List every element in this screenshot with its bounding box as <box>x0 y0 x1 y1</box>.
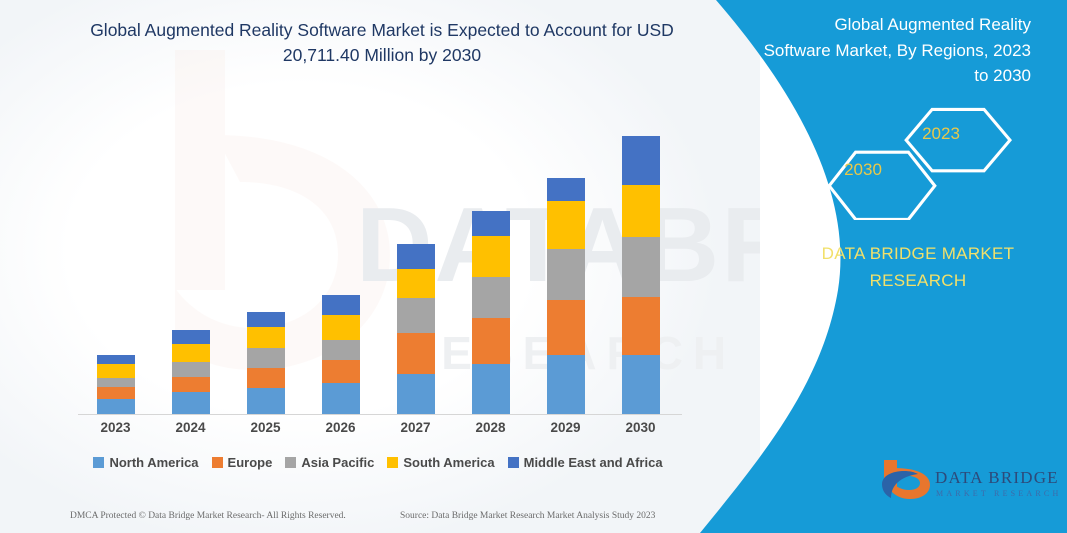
legend-item-europe[interactable]: Europe <box>212 455 273 470</box>
bar-2029 <box>528 178 603 415</box>
legend-item-middle-east-and-africa[interactable]: Middle East and Africa <box>508 455 663 470</box>
bar-segment-2023-asia-pacific <box>97 378 135 387</box>
legend-item-south-america[interactable]: South America <box>387 455 494 470</box>
bar-segment-2025-middle-east-and-africa <box>247 312 285 327</box>
year-hexagons: 2030 2023 <box>648 100 1067 220</box>
brand-line-2: RESEARCH <box>870 271 967 290</box>
company-logo: DATA BRIDGE MARKET RESEARCH <box>880 458 1060 520</box>
legend-swatch-icon <box>285 457 296 468</box>
bar-segment-2027-north-america <box>397 374 435 415</box>
bar-2024 <box>153 330 228 415</box>
footer-source: Source: Data Bridge Market Research Mark… <box>400 511 655 521</box>
hexagon-2030-label: 2030 <box>828 160 898 180</box>
bar-segment-2027-asia-pacific <box>397 298 435 333</box>
bar-2023 <box>78 355 153 415</box>
bar-segment-2025-south-america <box>247 327 285 348</box>
bar-segment-2028-asia-pacific <box>472 277 510 318</box>
x-axis-label-2027: 2027 <box>378 420 453 435</box>
bar-segment-2026-north-america <box>322 383 360 415</box>
legend-swatch-icon <box>387 457 398 468</box>
page-title: Global Augmented Reality Software Market… <box>72 18 692 68</box>
legend-item-asia-pacific[interactable]: Asia Pacific <box>285 455 374 470</box>
legend-swatch-icon <box>212 457 223 468</box>
bar-segment-2024-europe <box>172 377 210 392</box>
logo-text-sub: MARKET RESEARCH <box>936 489 1061 498</box>
bar-segment-2027-middle-east-and-africa <box>397 244 435 269</box>
bar-segment-2023-south-america <box>97 364 135 378</box>
bar-segment-2029-north-america <box>547 355 585 415</box>
x-axis-label-2024: 2024 <box>153 420 228 435</box>
bar-segment-2025-north-america <box>247 388 285 415</box>
bar-segment-2029-south-america <box>547 201 585 249</box>
x-axis-label-2028: 2028 <box>453 420 528 435</box>
bar-segment-2023-middle-east-and-africa <box>97 355 135 364</box>
legend-item-north-america[interactable]: North America <box>93 455 198 470</box>
bar-segment-2025-europe <box>247 368 285 388</box>
panel-heading: Global Augmented Reality Software Market… <box>763 12 1031 89</box>
bar-2025 <box>228 312 303 415</box>
x-axis-label-2026: 2026 <box>303 420 378 435</box>
chart-panel: DATABRIDGE RESEARCH Global Augmented Rea… <box>0 0 760 533</box>
legend-swatch-icon <box>508 457 519 468</box>
footer-dmca: DMCA Protected © Data Bridge Market Rese… <box>70 511 346 521</box>
footer: DMCA Protected © Data Bridge Market Rese… <box>0 505 740 527</box>
plot-area <box>78 110 678 415</box>
bar-segment-2029-middle-east-and-africa <box>547 178 585 201</box>
brand-panel: Global Augmented Reality Software Market… <box>648 0 1067 533</box>
bar-2027 <box>378 244 453 415</box>
bar-segment-2025-asia-pacific <box>247 348 285 368</box>
bar-2026 <box>303 295 378 415</box>
x-axis-labels: 20232024202520262027202820292030 <box>78 420 678 444</box>
hexagon-2023-label: 2023 <box>906 124 976 144</box>
bar-segment-2024-asia-pacific <box>172 362 210 377</box>
chart-legend: North AmericaEuropeAsia PacificSouth Ame… <box>78 455 678 470</box>
bar-segment-2028-middle-east-and-africa <box>472 211 510 236</box>
bar-chart <box>78 110 678 415</box>
legend-label: South America <box>403 455 494 470</box>
bar-segment-2024-middle-east-and-africa <box>172 330 210 344</box>
bar-segment-2024-north-america <box>172 392 210 415</box>
logo-text-main: DATA BRIDGE <box>935 468 1059 488</box>
x-axis-label-2029: 2029 <box>528 420 603 435</box>
bar-segment-2029-asia-pacific <box>547 249 585 300</box>
legend-label: Middle East and Africa <box>524 455 663 470</box>
bar-segment-2028-north-america <box>472 364 510 415</box>
bar-segment-2028-europe <box>472 318 510 364</box>
bar-segment-2027-south-america <box>397 269 435 298</box>
bar-segment-2026-south-america <box>322 315 360 340</box>
bar-segment-2023-europe <box>97 387 135 399</box>
logo-mark-icon <box>880 458 932 504</box>
x-axis-label-2025: 2025 <box>228 420 303 435</box>
bar-segment-2024-south-america <box>172 344 210 362</box>
bar-segment-2027-europe <box>397 333 435 374</box>
bar-segment-2026-middle-east-and-africa <box>322 295 360 315</box>
bar-segment-2029-europe <box>547 300 585 355</box>
bar-segment-2028-south-america <box>472 236 510 277</box>
x-axis-line <box>78 414 682 415</box>
brand-name: DATA BRIDGE MARKET RESEARCH <box>783 240 1053 294</box>
bar-segment-2026-europe <box>322 360 360 383</box>
legend-swatch-icon <box>93 457 104 468</box>
bar-2028 <box>453 211 528 415</box>
x-axis-label-2023: 2023 <box>78 420 153 435</box>
legend-label: Asia Pacific <box>301 455 374 470</box>
legend-label: North America <box>109 455 198 470</box>
brand-line-1: DATA BRIDGE MARKET <box>822 244 1015 263</box>
legend-label: Europe <box>228 455 273 470</box>
bar-segment-2026-asia-pacific <box>322 340 360 360</box>
bar-segment-2023-north-america <box>97 399 135 415</box>
